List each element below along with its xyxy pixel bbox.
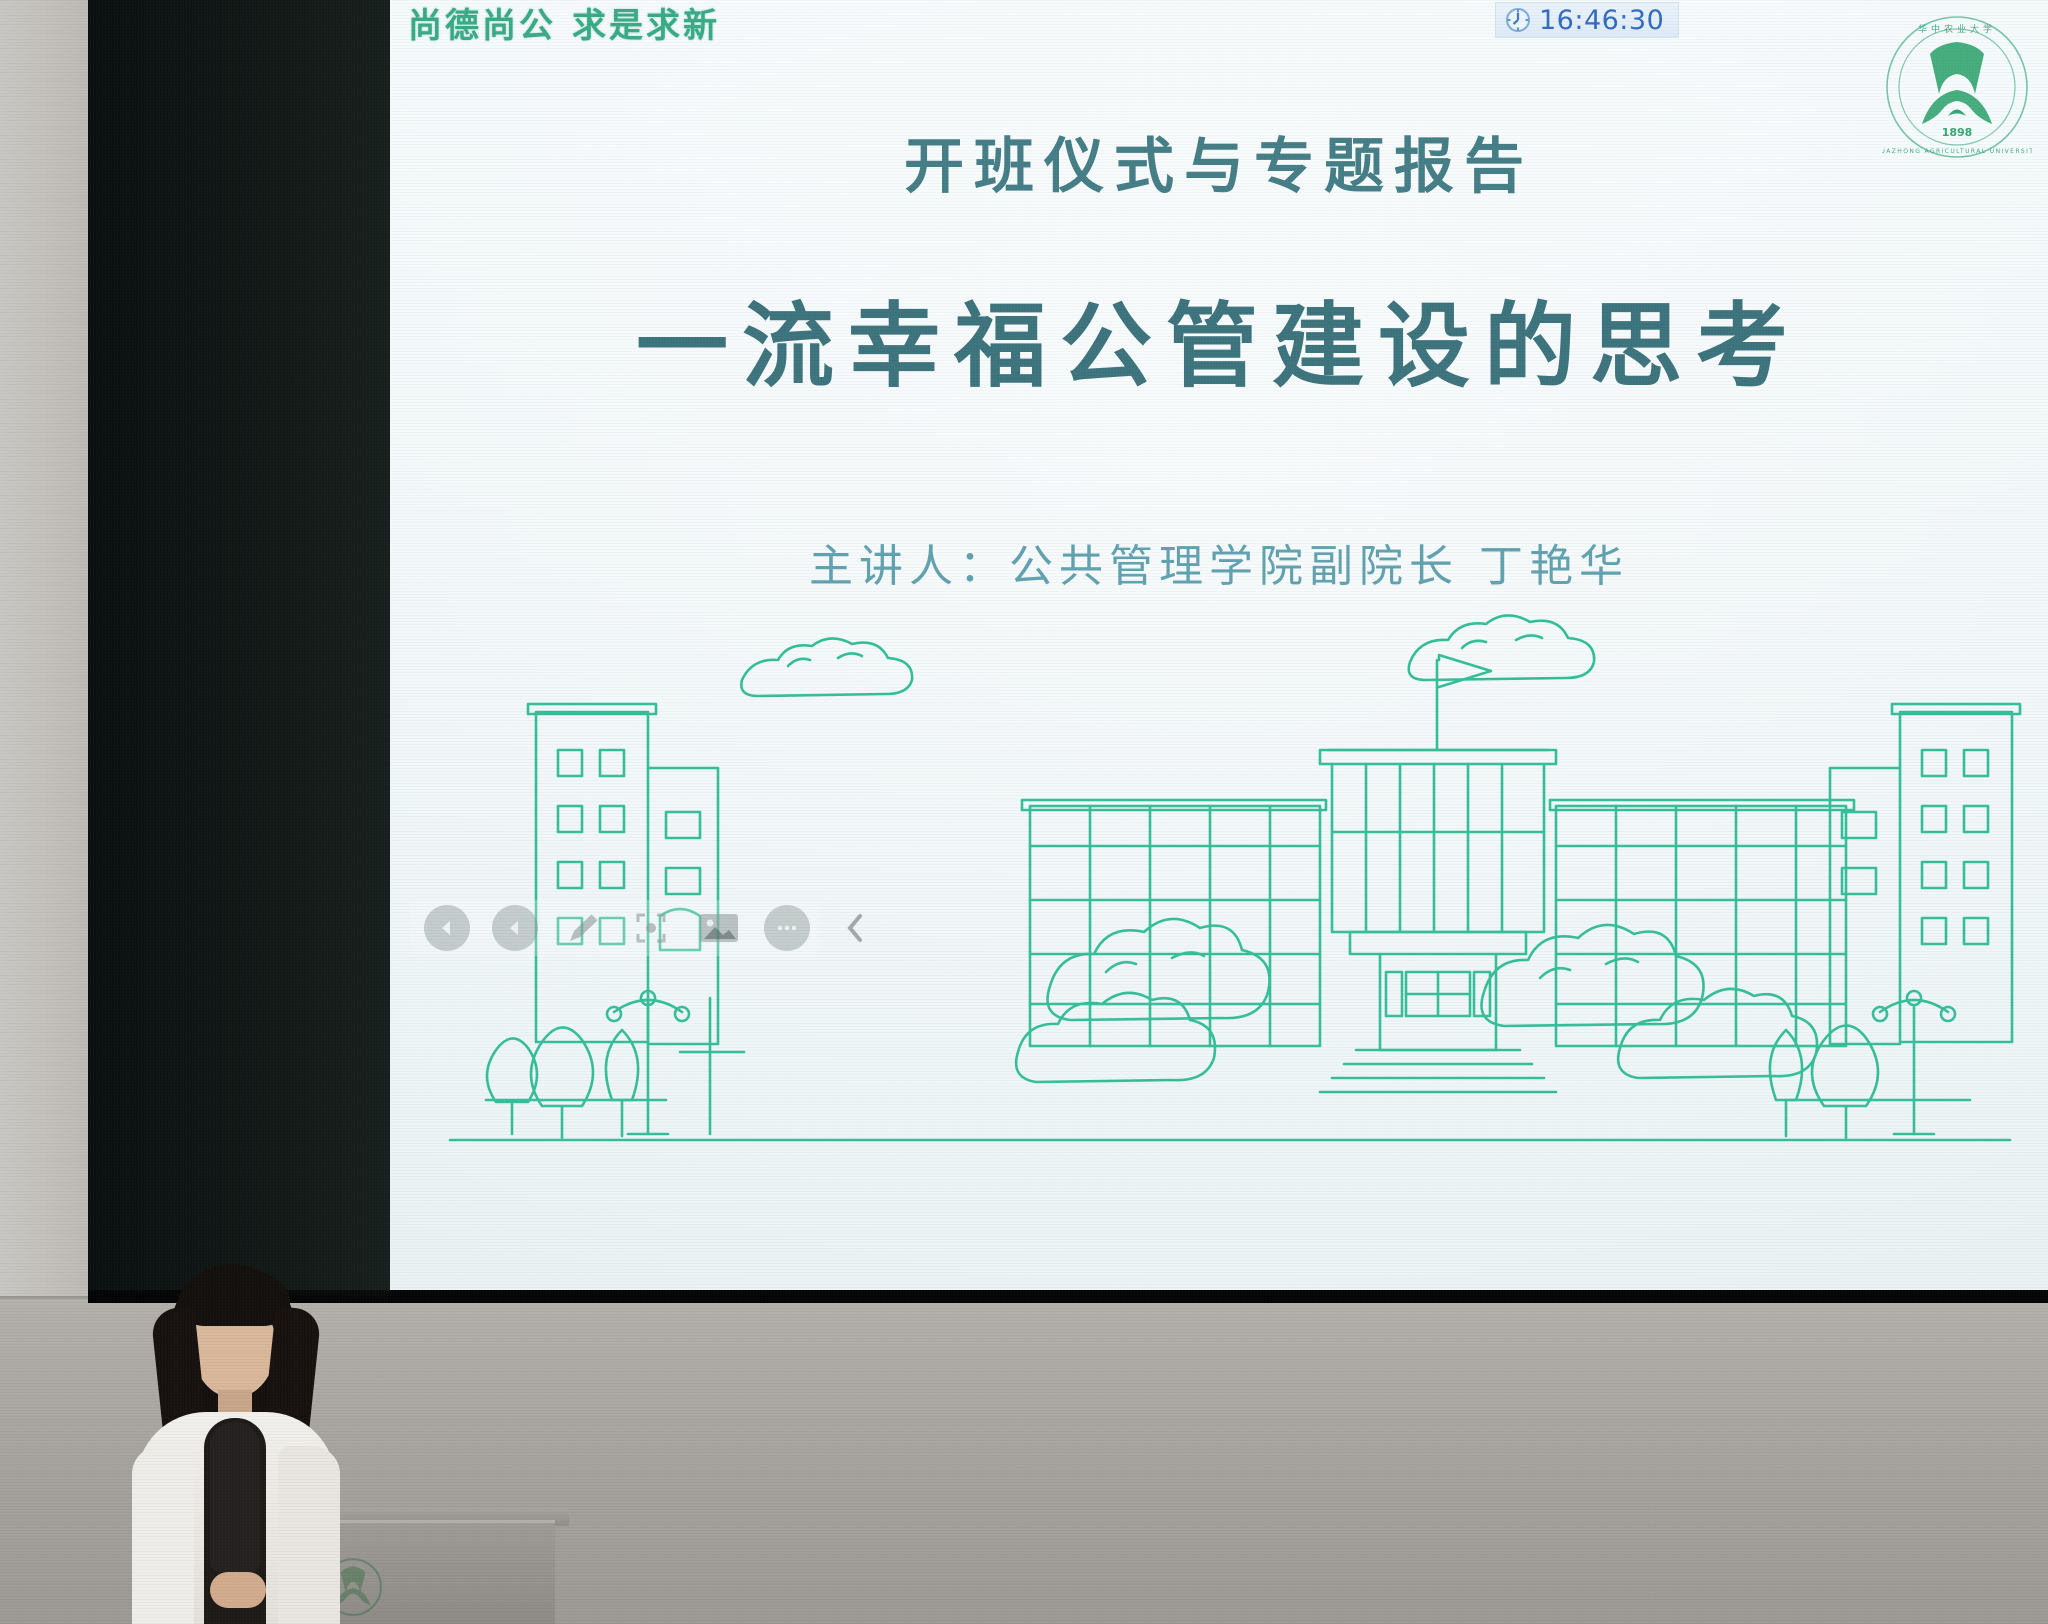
projection-screen: 尚德尚公求是求新 16:46:30 [88, 0, 2048, 1303]
street-lamp-right [1873, 991, 1955, 1134]
bush-cluster-right [1482, 925, 1818, 1078]
flagpole [680, 998, 744, 1134]
more-options-icon[interactable] [764, 905, 810, 951]
speaker-scarf [210, 1422, 260, 1572]
slide-subtitle: 开班仪式与专题报告 [390, 118, 2048, 205]
clock-icon [1504, 6, 1532, 34]
tower-left [528, 704, 718, 1044]
presentation-slide[interactable]: 尚德尚公求是求新 16:46:30 [390, 0, 2048, 1290]
play-back-icon[interactable] [424, 905, 470, 951]
speaker-arm-left [132, 1446, 194, 1624]
speaker-arm-right [278, 1446, 340, 1624]
screenshot-focus-icon[interactable] [628, 907, 674, 949]
lecture-hall-scene: 尚德尚公求是求新 16:46:30 [0, 0, 2048, 1624]
bush-cluster-left [1016, 919, 1269, 1082]
motto-left-text: 尚德尚公 [408, 6, 556, 46]
screen-dark-margin [88, 0, 390, 1303]
clock-time: 16:46:30 [1539, 7, 1664, 34]
seal-name-cn: 华中农业大学 [1918, 23, 1996, 35]
screen-bottom-shadow [88, 1290, 2048, 1303]
motto-right-text: 求是求新 [572, 6, 720, 46]
slide-motto: 尚德尚公求是求新 [408, 0, 720, 47]
cloud-left [741, 638, 912, 696]
clock-widget[interactable]: 16:46:30 [1495, 2, 1679, 38]
image-icon[interactable] [696, 907, 742, 949]
tower-right [1830, 704, 2020, 1044]
slide-title: 一流幸福公管建设的思考 [390, 272, 2048, 405]
small-trees-right [1770, 1025, 1878, 1138]
annotation-toolbar[interactable] [410, 900, 820, 956]
slide-presenter: 主讲人：公共管理学院副院长 丁艳华 [390, 530, 2048, 594]
right-wing [1550, 800, 1854, 1046]
chevron-left-icon[interactable] [832, 907, 878, 949]
street-lamp-left [607, 991, 689, 1134]
pen-icon[interactable] [560, 907, 606, 949]
small-trees-left [487, 1027, 638, 1138]
speaker-hands [210, 1572, 266, 1608]
annotate-icon[interactable] [492, 905, 538, 951]
speaker-figure [118, 1250, 348, 1624]
